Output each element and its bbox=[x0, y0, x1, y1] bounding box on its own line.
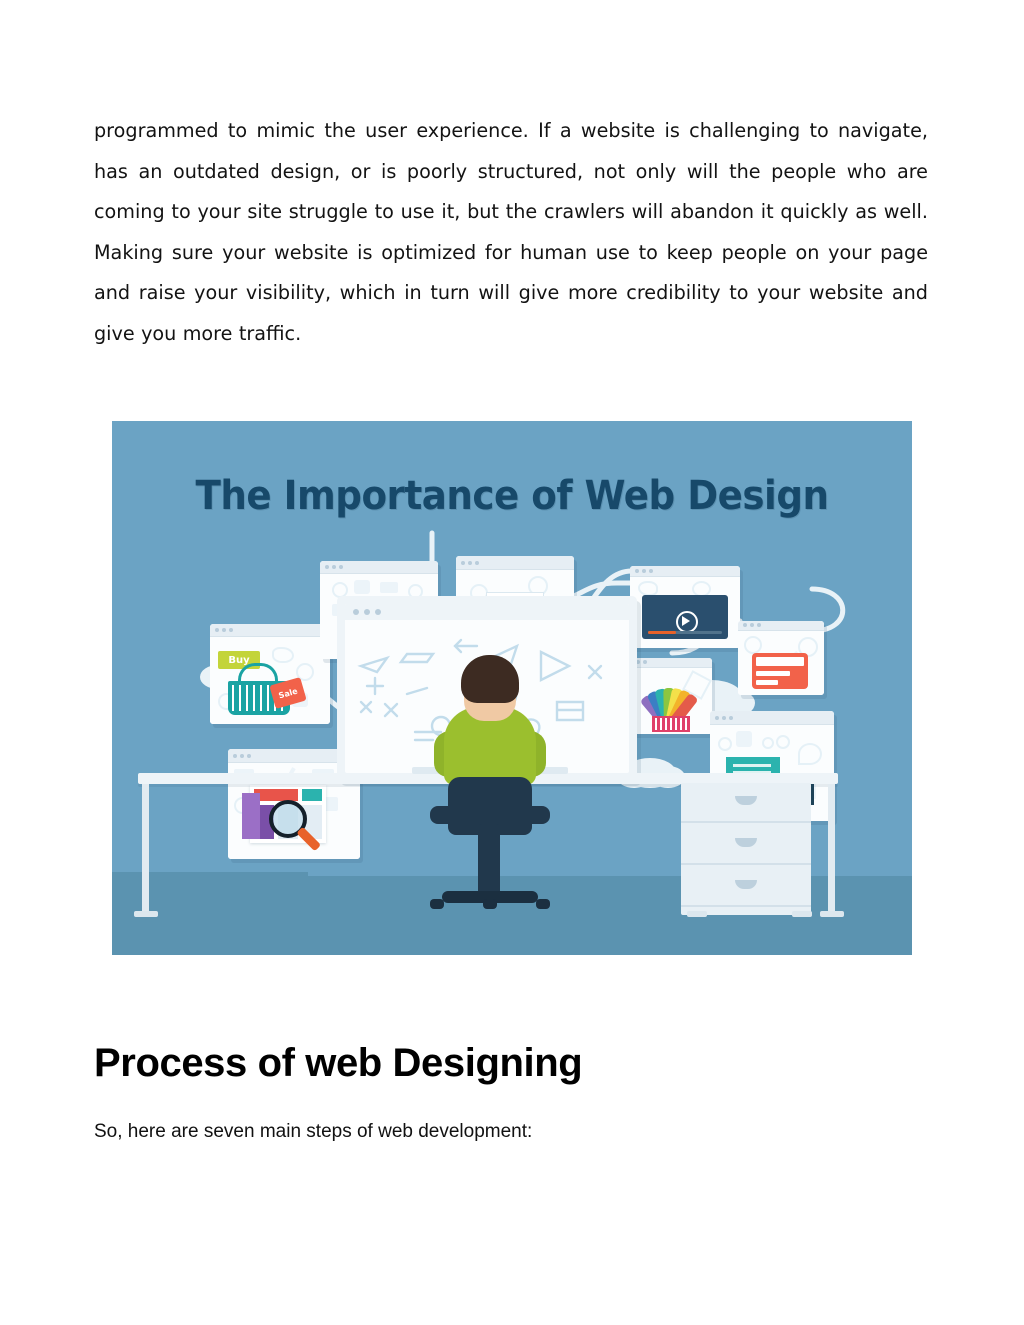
desk-leg-right bbox=[828, 784, 835, 915]
body-paragraph: programmed to mimic the user experience.… bbox=[94, 111, 928, 354]
document-page: programmed to mimic the user experience.… bbox=[0, 0, 1024, 1325]
drawer-1 bbox=[681, 783, 811, 823]
chair-seat bbox=[430, 806, 550, 824]
card-titlebar bbox=[630, 566, 740, 577]
web-design-illustration: The Importance of Web Design Buy Sale bbox=[112, 421, 912, 955]
shopping-basket-card: Buy Sale bbox=[210, 624, 330, 724]
drawer-3 bbox=[681, 867, 811, 907]
chair-wheel-right bbox=[536, 899, 550, 909]
section-heading: Process of web Designing bbox=[94, 1037, 582, 1089]
card-titlebar bbox=[210, 624, 330, 637]
card-titlebar bbox=[738, 621, 824, 631]
card-titlebar bbox=[710, 711, 834, 725]
card-titlebar bbox=[456, 556, 574, 570]
desk-leg-left bbox=[142, 784, 149, 915]
card-titlebar bbox=[624, 658, 712, 668]
desk-foot-left bbox=[134, 911, 158, 917]
drawer-cabinet bbox=[681, 783, 811, 915]
illustration-title: The Importance of Web Design bbox=[140, 473, 884, 519]
card-titlebar bbox=[320, 561, 438, 574]
cabinet-foot-left bbox=[687, 911, 707, 917]
video-player-card bbox=[630, 566, 740, 648]
card-body bbox=[738, 631, 824, 695]
drawer-2 bbox=[681, 825, 811, 865]
color-palette-card bbox=[624, 658, 712, 734]
card-body: Buy Sale bbox=[210, 637, 330, 724]
card-body bbox=[624, 668, 712, 734]
monitor-titlebar bbox=[345, 604, 629, 620]
desk-foot-right bbox=[820, 911, 844, 917]
person-hair bbox=[461, 655, 519, 703]
chair-wheel-left bbox=[430, 899, 444, 909]
chair-cylinder bbox=[478, 824, 500, 896]
lead-paragraph: So, here are seven main steps of web dev… bbox=[94, 1118, 532, 1146]
chair-wheel-center bbox=[483, 899, 497, 909]
cabinet-foot-right bbox=[792, 911, 812, 917]
card-body bbox=[630, 577, 740, 648]
browser-window-card bbox=[738, 621, 824, 695]
